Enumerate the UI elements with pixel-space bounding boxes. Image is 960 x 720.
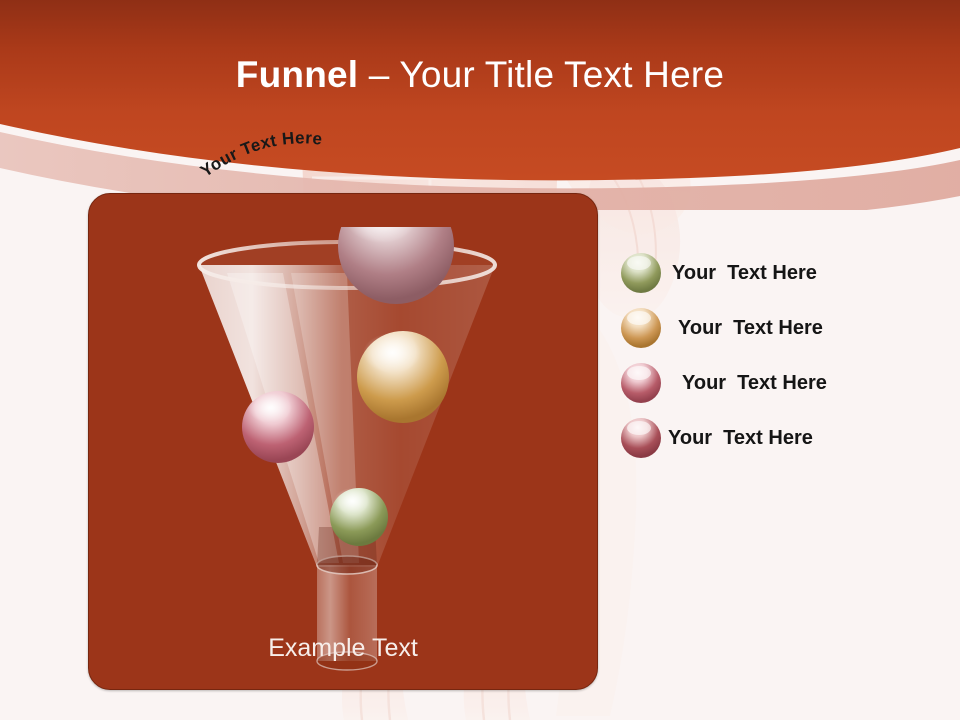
slide: Funnel – Your Title Text Here (0, 0, 960, 720)
page-title: Funnel – Your Title Text Here (0, 52, 960, 98)
legend-item[interactable]: Your Text Here (620, 307, 940, 362)
legend-item-label: Your Text Here (672, 259, 817, 287)
funnel-ball-green (330, 488, 388, 546)
funnel-arc-label: Your Text Here (196, 118, 406, 188)
content-panel[interactable]: Example Text (88, 193, 598, 690)
legend-item-label: Your Text Here (682, 369, 827, 397)
legend-bullet-maroon-icon (620, 417, 662, 459)
legend-item[interactable]: Your Text Here (620, 252, 940, 307)
funnel-ball-rose (242, 391, 314, 463)
legend-item-label: Your Text Here (668, 424, 813, 452)
legend-bullet-tan-icon (620, 307, 662, 349)
funnel-arc-label-text: Your Text Here (197, 128, 324, 180)
legend: Your Text Here Your Text Here (620, 252, 940, 472)
panel-caption: Example Text (89, 633, 597, 663)
legend-item-label: Your Text Here (678, 314, 823, 342)
funnel-ball-gold (357, 331, 449, 423)
header-banner (0, 0, 960, 210)
legend-item[interactable]: Your Text Here (620, 417, 940, 472)
page-title-rest: – Your Title Text Here (358, 54, 724, 95)
page-title-strong: Funnel (236, 54, 358, 95)
legend-item[interactable]: Your Text Here (620, 362, 940, 417)
legend-bullet-rose-icon (620, 362, 662, 404)
legend-bullet-olive-icon (620, 252, 662, 294)
